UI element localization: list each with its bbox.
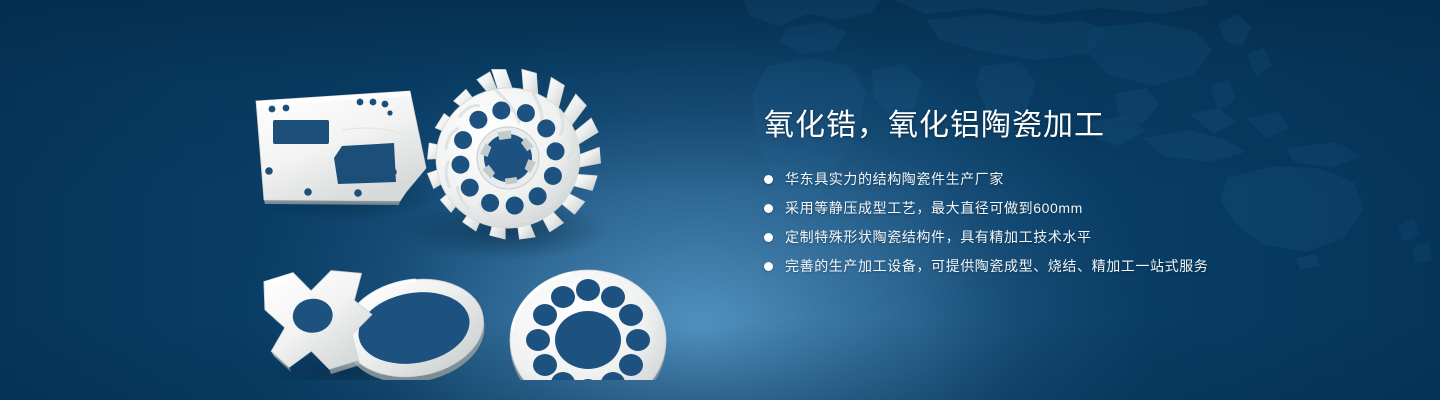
bullet-dot-icon: [764, 204, 773, 213]
list-item-label: 完善的生产加工设备，可提供陶瓷成型、烧结、精加工一站式服务: [785, 255, 1208, 277]
list-item-label: 华东具实力的结构陶瓷件生产厂家: [785, 168, 1004, 190]
list-item: 完善的生产加工设备，可提供陶瓷成型、烧结、精加工一站式服务: [764, 255, 1384, 277]
hero-banner: 氧化锆，氧化铝陶瓷加工 华东具实力的结构陶瓷件生产厂家 采用等静压成型工艺，最大…: [0, 0, 1440, 400]
bullet-dot-icon: [764, 262, 773, 271]
list-item: 采用等静压成型工艺，最大直径可做到600mm: [764, 197, 1384, 219]
list-item: 定制特殊形状陶瓷结构件，具有精加工技术水平: [764, 226, 1384, 248]
list-item-label: 定制特殊形状陶瓷结构件，具有精加工技术水平: [785, 226, 1092, 248]
feature-list: 华东具实力的结构陶瓷件生产厂家 采用等静压成型工艺，最大直径可做到600mm 定…: [764, 168, 1384, 277]
list-item-label: 采用等静压成型工艺，最大直径可做到600mm: [785, 197, 1083, 219]
page-title: 氧化锆，氧化铝陶瓷加工: [764, 106, 1384, 146]
bullet-dot-icon: [764, 175, 773, 184]
bullet-dot-icon: [764, 233, 773, 242]
product-photo-group: [230, 40, 700, 380]
list-item: 华东具实力的结构陶瓷件生产厂家: [764, 168, 1384, 190]
banner-text-block: 氧化锆，氧化铝陶瓷加工 华东具实力的结构陶瓷件生产厂家 采用等静压成型工艺，最大…: [764, 106, 1384, 284]
ceramic-plate: [256, 91, 426, 205]
ceramic-perforated-disc: [510, 270, 666, 380]
